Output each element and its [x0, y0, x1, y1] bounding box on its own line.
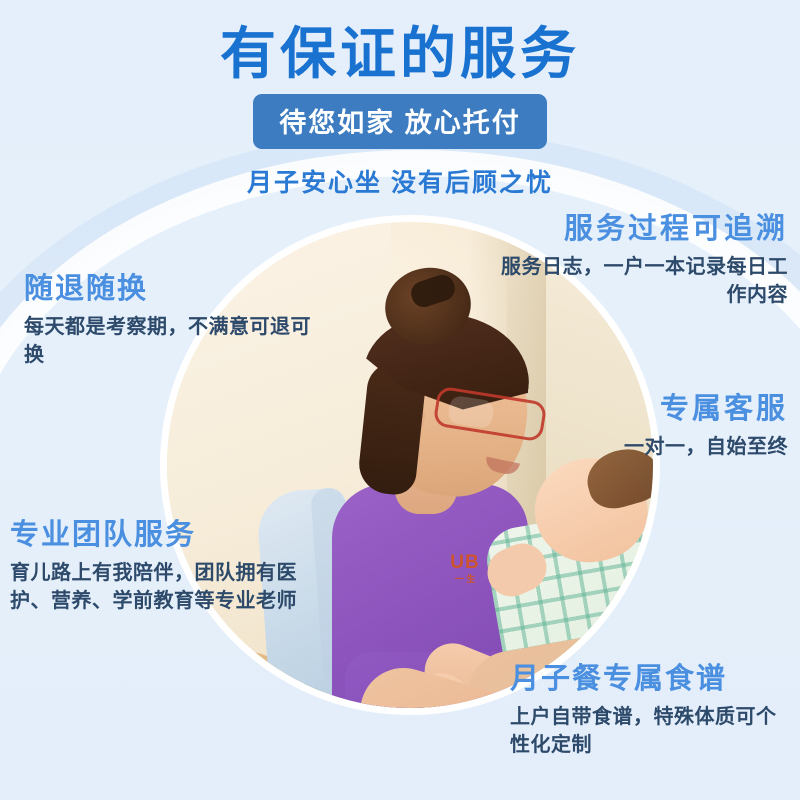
tagline-badge: 待您如家 放心托付: [253, 94, 547, 149]
feature-customer-service-desc: 一对一，自始至终: [560, 433, 788, 461]
feature-exchange: 随退随换 每天都是考察期，不满意可退可换: [24, 272, 324, 370]
badge-container: 待您如家 放心托付: [0, 94, 800, 149]
feature-traceable: 服务过程可追溯 服务日志，一户一本记录每日工作内容: [498, 212, 788, 310]
poster-header: 有保证的服务 待您如家 放心托付 月子安心坐 没有后顾之忧: [0, 0, 800, 199]
feature-meal-title: 月子餐专属食谱: [510, 662, 790, 697]
feature-meal-desc: 上户自带食谱，特殊体质可个性化定制: [510, 703, 790, 760]
feature-exchange-title: 随退随换: [24, 272, 324, 307]
feature-customer-service-title: 专属客服: [560, 392, 788, 427]
page-title: 有保证的服务: [0, 0, 800, 86]
page-subtitle: 月子安心坐 没有后顾之忧: [0, 163, 800, 199]
feature-team-title: 专业团队服务: [10, 518, 310, 553]
feature-team: 专业团队服务 育儿路上有我陪伴，团队拥有医护、营养、学前教育等专业老师: [10, 518, 310, 616]
feature-traceable-title: 服务过程可追溯: [498, 212, 788, 247]
feature-team-desc: 育儿路上有我陪伴，团队拥有医护、营养、学前教育等专业老师: [10, 559, 310, 616]
feature-exchange-desc: 每天都是考察期，不满意可退可换: [24, 313, 324, 370]
promo-poster: 有保证的服务 待您如家 放心托付 月子安心坐 没有后顾之忧 UB 一 生: [0, 0, 800, 800]
feature-traceable-desc: 服务日志，一户一本记录每日工作内容: [498, 253, 788, 310]
feature-customer-service: 专属客服 一对一，自始至终: [560, 392, 788, 461]
feature-meal: 月子餐专属食谱 上户自带食谱，特殊体质可个性化定制: [510, 662, 790, 760]
